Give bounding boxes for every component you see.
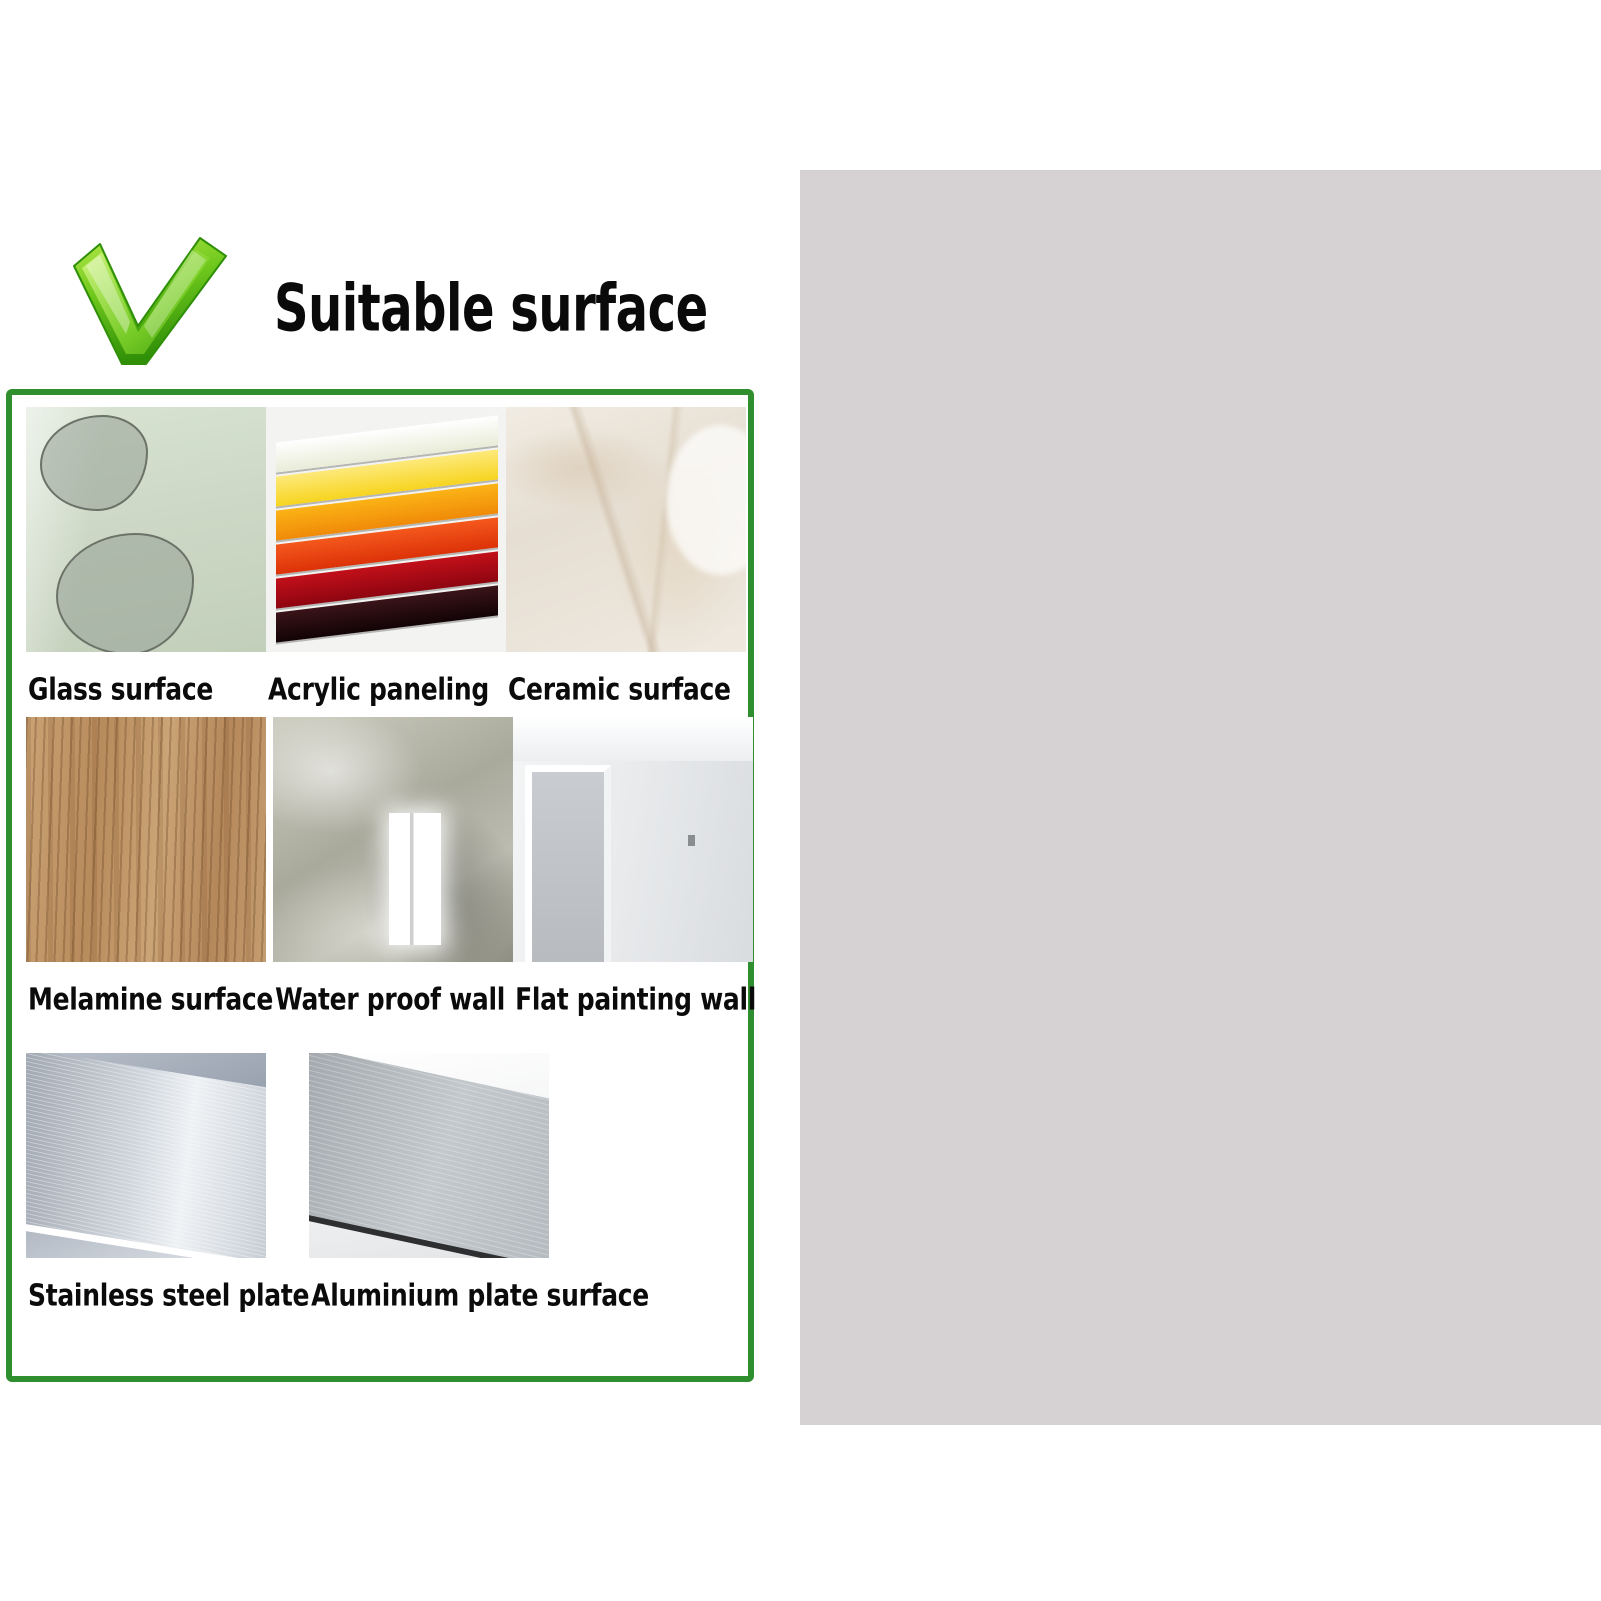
tile-caption: Flat painting wall — [513, 962, 756, 1014]
tile-caption: Aluminium plate surface — [309, 1258, 649, 1310]
tile-flat-painting-wall: Flat painting wall — [513, 717, 756, 1005]
tile-stainless-steel-plate: Stainless steel plate — [26, 1053, 309, 1301]
suitable-row-3: Stainless steel plate Aluminium plate su… — [26, 1053, 649, 1301]
doorway — [525, 765, 611, 962]
tile-caption: Melamine surface — [26, 962, 273, 1014]
stainless-steel-plate-photo — [26, 1053, 266, 1258]
suitable-row-1: Glass surface Acrylic paneling Ceramic s… — [26, 407, 746, 695]
wall-switch — [688, 835, 695, 846]
aluminium-plate — [309, 1053, 549, 1258]
water-proof-wall-photo — [273, 717, 513, 962]
suitable-row-2: Melamine surface Water proof wall Flat p… — [26, 717, 756, 1005]
ceramic-surface-photo — [506, 407, 746, 652]
ceiling — [513, 717, 753, 761]
tile-aluminium-plate-surface: Aluminium plate surface — [309, 1053, 649, 1301]
green-check-icon — [60, 230, 232, 370]
tile-ceramic-surface: Ceramic surface — [506, 407, 746, 695]
tile-caption: Stainless steel plate — [26, 1258, 309, 1310]
tile-caption: Water proof wall — [273, 962, 513, 1014]
suitable-heading: Suitable surface — [60, 215, 717, 385]
tile-glass-surface: Glass surface — [26, 407, 266, 695]
steel-plate — [26, 1053, 266, 1258]
glass-surface-photo — [26, 407, 266, 652]
tile-water-proof-wall: Water proof wall — [273, 717, 513, 1005]
tile-melamine-surface: Melamine surface — [26, 717, 273, 1005]
melamine-surface-photo — [26, 717, 266, 962]
flat-painting-wall-photo — [513, 717, 753, 962]
suitable-panel: Glass surface Acrylic paneling Ceramic s… — [6, 389, 754, 1382]
window-highlight — [389, 813, 441, 945]
not-suitable-backdrop — [800, 170, 1601, 1425]
page-title-suitable: Suitable surface — [274, 276, 708, 341]
tile-caption: Acrylic paneling — [266, 652, 506, 704]
tile-acrylic-paneling: Acrylic paneling — [266, 407, 506, 695]
acrylic-paneling-photo — [266, 407, 506, 652]
aluminium-plate-photo — [309, 1053, 549, 1258]
tile-caption: Ceramic surface — [506, 652, 746, 704]
tile-caption: Glass surface — [26, 652, 266, 704]
